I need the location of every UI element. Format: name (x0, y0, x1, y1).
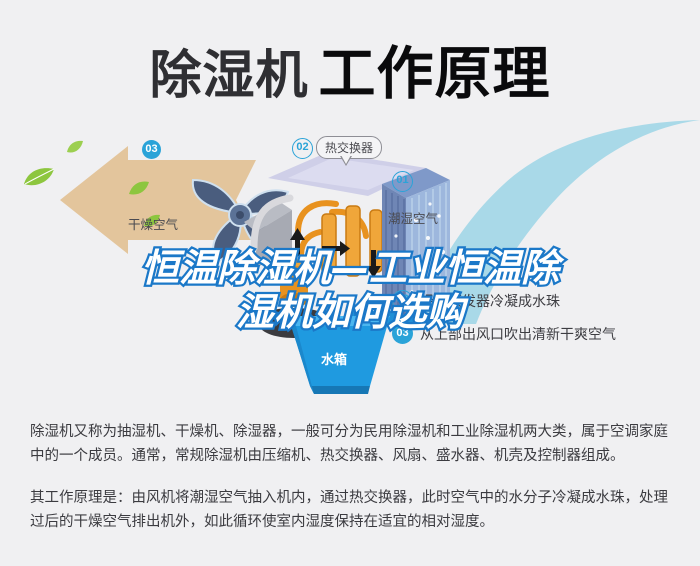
body-paragraph-2: 其工作原理是：由风机将潮湿空气抽入机内，通过热交换器，此时空气中的水分子冷凝成水… (30, 486, 675, 534)
callout-label-humid-air: 潮湿空气 (388, 208, 438, 227)
step-badge-03: 03 (392, 323, 413, 344)
callout-badge-01: 01 (392, 171, 413, 192)
dehumidifier-diagram: 水箱 03 干燥空气 02 热交换器 01 潮湿空气 (0, 118, 700, 403)
tank-label: 水箱 (321, 352, 347, 368)
callout-badge-03: 03 (142, 140, 161, 159)
step-badge-02: 02 (392, 290, 413, 311)
step-list: 02 经过蒸发器冷凝成水珠 03 从上部出风口吹出清新干爽空气 (392, 290, 692, 356)
leaf-icon (22, 166, 56, 188)
page-title-part2: 工作原理 (319, 42, 551, 106)
callout-badge-02: 02 (292, 138, 313, 159)
poster-root: 除湿机工作原理 (0, 0, 700, 566)
body-paragraph-1: 除湿机又称为抽湿机、干燥机、除湿器，一般可分为民用除湿机和工业除湿机两大类，属于… (30, 420, 675, 468)
page-title: 除湿机工作原理 (0, 28, 700, 110)
step-text-03: 从上部出风口吹出清新干爽空气 (420, 324, 616, 344)
leaf-icon (128, 180, 150, 196)
article-body: 除湿机又称为抽湿机、干燥机、除湿器，一般可分为民用除湿机和工业除湿机两大类，属于… (30, 420, 675, 552)
step-item: 03 从上部出风口吹出清新干爽空气 (392, 323, 692, 344)
leaf-icon (66, 140, 84, 154)
page-title-part1: 除湿机 (149, 47, 308, 105)
callout-label-dry-air: 干燥空气 (128, 214, 178, 233)
step-text-02: 经过蒸发器冷凝成水珠 (420, 291, 560, 311)
bubble-tail-icon (340, 156, 352, 166)
water-tank-icon: 水箱 (258, 308, 398, 403)
step-item: 02 经过蒸发器冷凝成水珠 (392, 290, 692, 311)
